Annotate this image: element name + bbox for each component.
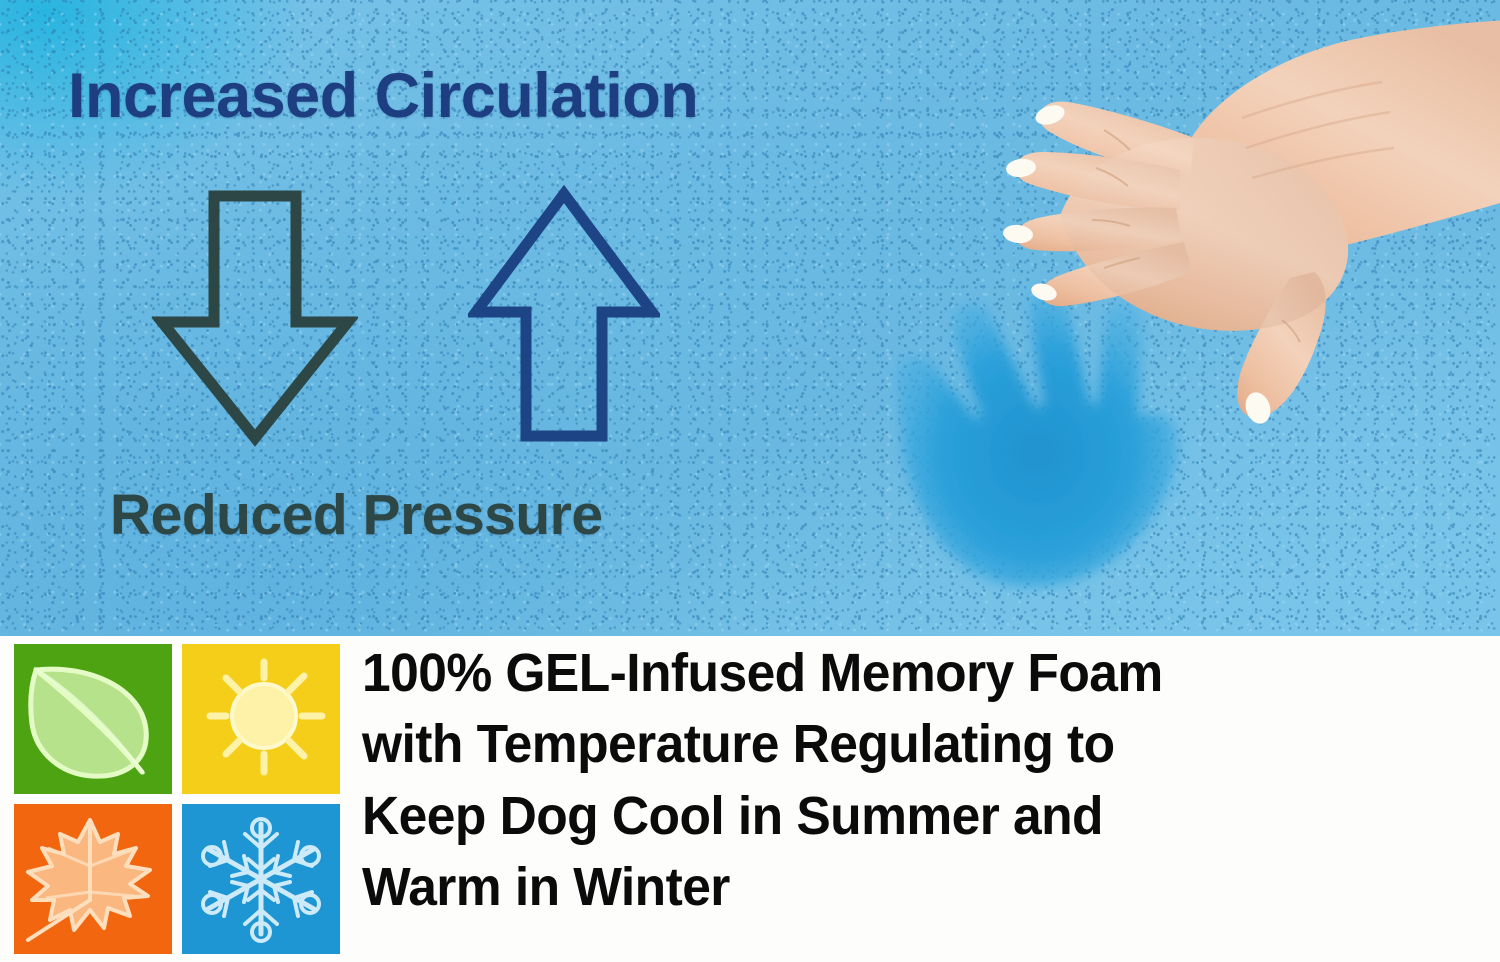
season-tile-winter bbox=[182, 804, 340, 954]
snowflake-icon bbox=[182, 804, 340, 954]
maple-leaf-icon bbox=[14, 804, 172, 954]
product-tagline: 100% GEL-Infused Memory Foam with Temper… bbox=[362, 638, 1447, 923]
season-tile-spring bbox=[14, 644, 172, 794]
foam-photo-panel: Increased Circulation Reduced Pressure bbox=[0, 0, 1500, 636]
up-arrow-icon bbox=[468, 182, 660, 448]
tagline-line-4: Warm in Winter bbox=[362, 852, 1447, 923]
tagline-line-3: Keep Dog Cool in Summer and bbox=[362, 781, 1447, 852]
tagline-line-1: 100% GEL-Infused Memory Foam bbox=[362, 638, 1447, 709]
leaf-icon bbox=[14, 644, 172, 794]
season-tile-autumn bbox=[14, 804, 172, 954]
sun-icon bbox=[182, 644, 340, 794]
feature-callout-panel: 100% GEL-Infused Memory Foam with Temper… bbox=[0, 636, 1500, 962]
down-arrow-icon bbox=[152, 186, 358, 448]
tagline-line-2: with Temperature Regulating to bbox=[362, 709, 1447, 780]
reduced-pressure-label: Reduced Pressure bbox=[110, 482, 603, 548]
hand-photo-group bbox=[820, 0, 1500, 636]
season-tile-summer bbox=[182, 644, 340, 794]
banner-root: Increased Circulation Reduced Pressure bbox=[0, 0, 1500, 962]
increased-circulation-label: Increased Circulation bbox=[68, 60, 698, 132]
season-icon-grid bbox=[14, 644, 348, 954]
human-hand bbox=[890, 20, 1500, 470]
